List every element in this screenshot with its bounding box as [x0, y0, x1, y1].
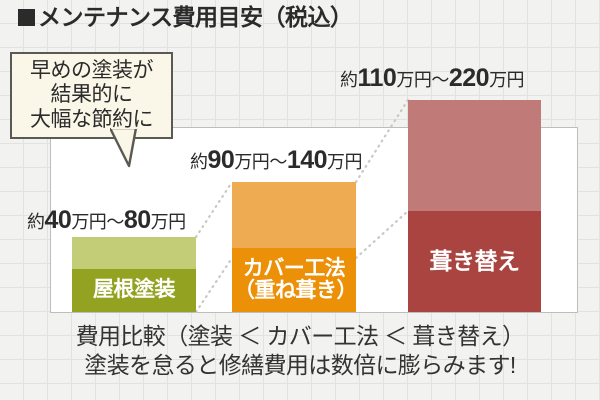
value-label-roof-min: 40 [45, 206, 72, 234]
page-title-text: メンテナンス費用目安（税込） [38, 6, 353, 29]
value-label-cover-min: 90 [208, 146, 235, 174]
value-label-roof-unit-min: 万円 [71, 212, 106, 232]
summary-caption-line-2: 塗装を怠ると修繕費用は数倍に膨らみます! [0, 351, 600, 380]
value-label-roof-prefix: 約 [27, 212, 45, 232]
bar-roof-painting-upper-range [72, 237, 196, 269]
value-label-roof-separator: 〜 [106, 212, 124, 232]
bar-reroofing-lower-range: 葺き替え [408, 211, 541, 312]
value-label-roof-unit-max: 万円 [151, 212, 186, 232]
value-label-cover-unit-min: 万円 [234, 152, 269, 172]
value-label-cover-unit-max: 万円 [327, 152, 362, 172]
value-label-cover-separator: 〜 [269, 152, 287, 172]
value-label-cover-method: 約90万円〜140万円 [190, 148, 362, 173]
bar-cover-method-label: カバー工法 （重ね葺き） [232, 258, 356, 302]
bar-cover-method-label-line2: （重ね葺き） [234, 279, 357, 302]
value-label-cover-max: 140 [287, 146, 327, 174]
bar-roof-painting-label: 屋根塗装 [91, 279, 177, 301]
bar-reroofing-label: 葺き替え [428, 249, 522, 273]
bar-reroofing-upper-range [408, 100, 541, 211]
value-label-reroofing: 約110万円〜220万円 [340, 66, 524, 91]
savings-callout-tail [110, 128, 144, 168]
bar-cover-method-upper-range [232, 182, 356, 248]
value-label-roof-painting: 約40万円〜80万円 [27, 208, 186, 233]
summary-caption-line-1: 費用比較（塗装 ＜ カバー工法 ＜ 葺き替え） [0, 322, 600, 351]
value-label-reroof-max: 220 [449, 64, 489, 92]
value-label-roof-max: 80 [124, 206, 151, 234]
bar-roof-painting-lower-range: 屋根塗装 [72, 269, 196, 312]
savings-callout-line-3: 大幅な節約に [16, 108, 167, 132]
value-label-reroof-min: 110 [358, 64, 397, 92]
summary-caption: 費用比較（塗装 ＜ カバー工法 ＜ 葺き替え） 塗装を怠ると修繕費用は数倍に膨ら… [0, 322, 600, 381]
bar-cover-method-label-line1: カバー工法 [243, 257, 346, 280]
infographic-root: メンテナンス費用目安（税込） 屋根塗装 カバー工法 （重ね葺き） 葺き替え [0, 0, 600, 400]
value-label-reroof-unit-min: 万円 [396, 70, 431, 90]
value-label-reroof-separator: 〜 [431, 70, 449, 90]
filled-square-icon [18, 9, 35, 26]
bar-roof-painting[interactable]: 屋根塗装 [72, 237, 196, 312]
value-label-cover-prefix: 約 [190, 152, 208, 172]
bar-cover-method[interactable]: カバー工法 （重ね葺き） [232, 182, 356, 312]
value-label-reroof-prefix: 約 [340, 70, 358, 90]
page-title: メンテナンス費用目安（税込） [18, 6, 353, 29]
savings-callout-line-2: 結果的に [16, 83, 167, 107]
savings-callout: 早めの塗装が 結果的に 大幅な節約に [10, 52, 173, 139]
savings-callout-line-1: 早めの塗装が [16, 59, 167, 83]
bar-cover-method-lower-range: カバー工法 （重ね葺き） [232, 248, 356, 312]
value-label-reroof-unit-max: 万円 [489, 70, 524, 90]
bar-reroofing[interactable]: 葺き替え [408, 100, 541, 312]
